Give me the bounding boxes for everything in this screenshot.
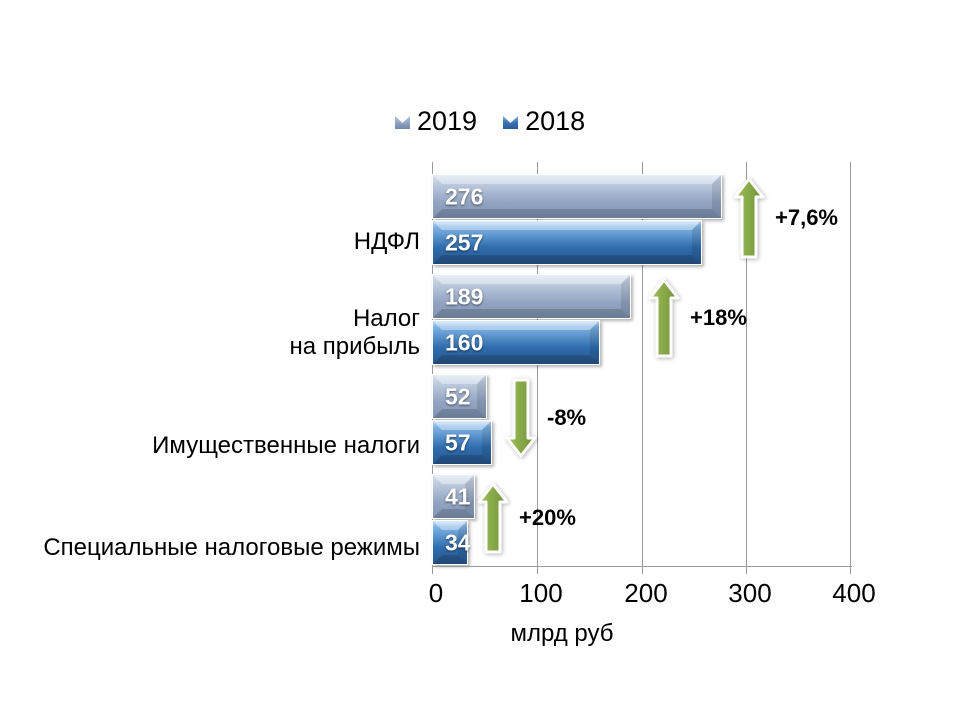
arrow-up-icon [648,278,680,358]
bar-bevel-bottom [433,309,630,318]
legend-swatch-2018-icon [503,114,518,129]
category-label-property-tax: Имущественные налоги [0,432,420,460]
change-label-special-regimes: +20% [519,507,576,529]
bar-2019-property-tax[interactable]: 52 [432,374,487,419]
legend-label-2018: 2018 [525,108,585,135]
x-axis-title: млрд руб [432,620,692,648]
category-label-profit-tax: Налог на прибыль [0,305,420,361]
bar-value-label: 276 [445,185,483,208]
arrow-up-icon [477,482,509,554]
x-tick-label-300: 300 [728,578,771,609]
bar-value-label: 52 [445,385,471,408]
change-indicator-profit-tax: +18% [648,278,747,358]
arrow-up-icon [733,177,765,259]
gridline-400 [850,162,851,566]
category-label-special-regimes: Специальные налоговые режимы [0,534,420,562]
x-tick-0 [432,567,433,574]
bar-2019-profit-tax[interactable]: 189 [432,274,631,319]
bar-2018-profit-tax[interactable]: 160 [432,320,600,365]
bar-value-label: 160 [445,331,483,354]
bar-2018-ndfl[interactable]: 257 [432,220,702,265]
bar-bevel-bottom [433,455,491,464]
bar-value-label: 189 [445,285,483,308]
x-tick-label-100: 100 [519,578,562,609]
change-label-ndfl: +7,6% [775,207,838,229]
legend-item-2018[interactable]: 2018 [503,108,585,135]
bar-2019-special-regimes[interactable]: 41 [432,474,475,519]
bar-value-label: 34 [445,531,471,554]
bar-2018-property-tax[interactable]: 57 [432,420,492,465]
change-label-property-tax: -8% [547,407,586,429]
arrow-down-icon [505,378,537,458]
chart-legend: 2019 2018 [395,108,585,135]
x-tick-label-0: 0 [429,578,443,609]
change-indicator-property-tax: -8% [505,378,586,458]
category-label-ndfl: НДФЛ [0,228,420,256]
bar-chart: 2019 2018 276 [0,0,960,720]
x-tick-200 [642,567,643,574]
bar-bevel-bottom [433,355,599,364]
legend-swatch-2019-icon [395,114,410,129]
change-label-profit-tax: +18% [690,307,747,329]
change-indicator-special-regimes: +20% [477,482,576,554]
bar-2018-special-regimes[interactable]: 34 [432,520,468,565]
x-tick-400 [850,567,851,574]
x-tick-300 [746,567,747,574]
legend-item-2019[interactable]: 2019 [395,108,477,135]
bar-bevel-bottom [433,255,701,264]
bar-value-label: 41 [445,485,471,508]
bar-bevel-bottom [433,409,486,418]
x-tick-label-400: 400 [832,578,875,609]
bar-value-label: 257 [445,231,483,254]
bar-value-label: 57 [445,431,471,454]
x-tick-100 [537,567,538,574]
bar-2019-ndfl[interactable]: 276 [432,174,722,219]
bar-bevel-bottom [433,209,721,218]
legend-label-2019: 2019 [417,108,477,135]
x-tick-label-200: 200 [624,578,667,609]
change-indicator-ndfl: +7,6% [733,177,838,259]
